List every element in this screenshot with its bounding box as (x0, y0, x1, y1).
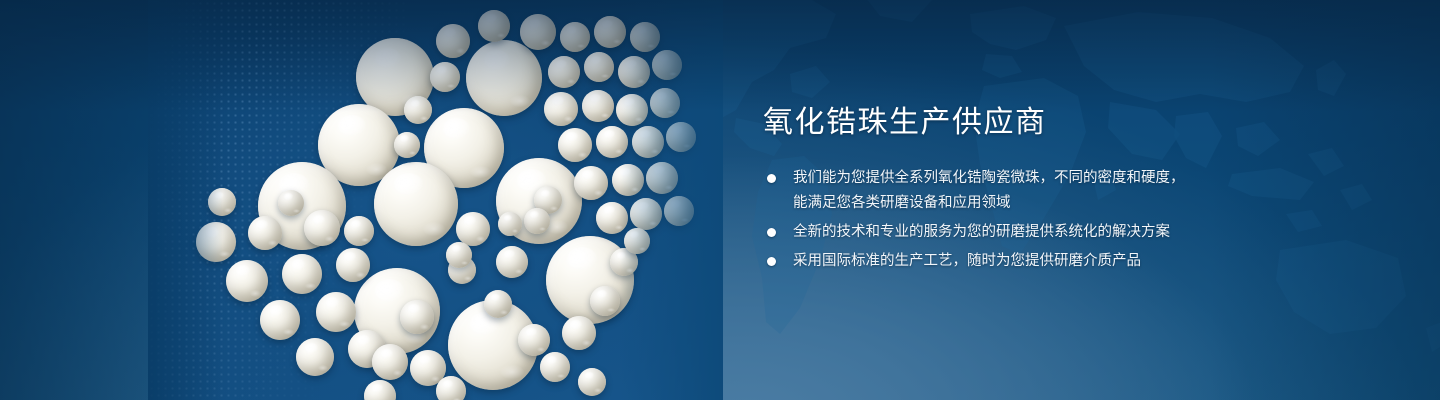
list-item: 采用国际标准的生产工艺，随时为您提供研磨介质产品 (763, 249, 1323, 274)
hero-banner: 氧化锆珠生产供应商 我们能为您提供全系列氧化锆陶瓷微珠，不同的密度和硬度， 能满… (0, 0, 1440, 400)
bullet-dot-icon (767, 257, 776, 266)
list-item: 全新的技术和专业的服务为您的研磨提供系统化的解决方案 (763, 220, 1323, 245)
bullet-dot-icon (767, 228, 776, 237)
feature-text-line1: 采用国际标准的生产工艺，随时为您提供研磨介质产品 (793, 249, 1323, 274)
feature-text-line2: 能满足您各类研磨设备和应用领域 (793, 195, 1011, 211)
feature-text-line1: 全新的技术和专业的服务为您的研磨提供系统化的解决方案 (793, 220, 1323, 245)
feature-text-line1: 我们能为您提供全系列氧化锆陶瓷微珠，不同的密度和硬度， (793, 166, 1323, 191)
feature-list: 我们能为您提供全系列氧化锆陶瓷微珠，不同的密度和硬度， 能满足您各类研磨设备和应… (763, 166, 1323, 274)
banner-copy: 氧化锆珠生产供应商 我们能为您提供全系列氧化锆陶瓷微珠，不同的密度和硬度， 能满… (763, 104, 1323, 274)
bullet-dot-icon (767, 174, 776, 183)
list-item: 我们能为您提供全系列氧化锆陶瓷微珠，不同的密度和硬度， 能满足您各类研磨设备和应… (763, 166, 1323, 216)
banner-headline: 氧化锆珠生产供应商 (763, 104, 1323, 142)
